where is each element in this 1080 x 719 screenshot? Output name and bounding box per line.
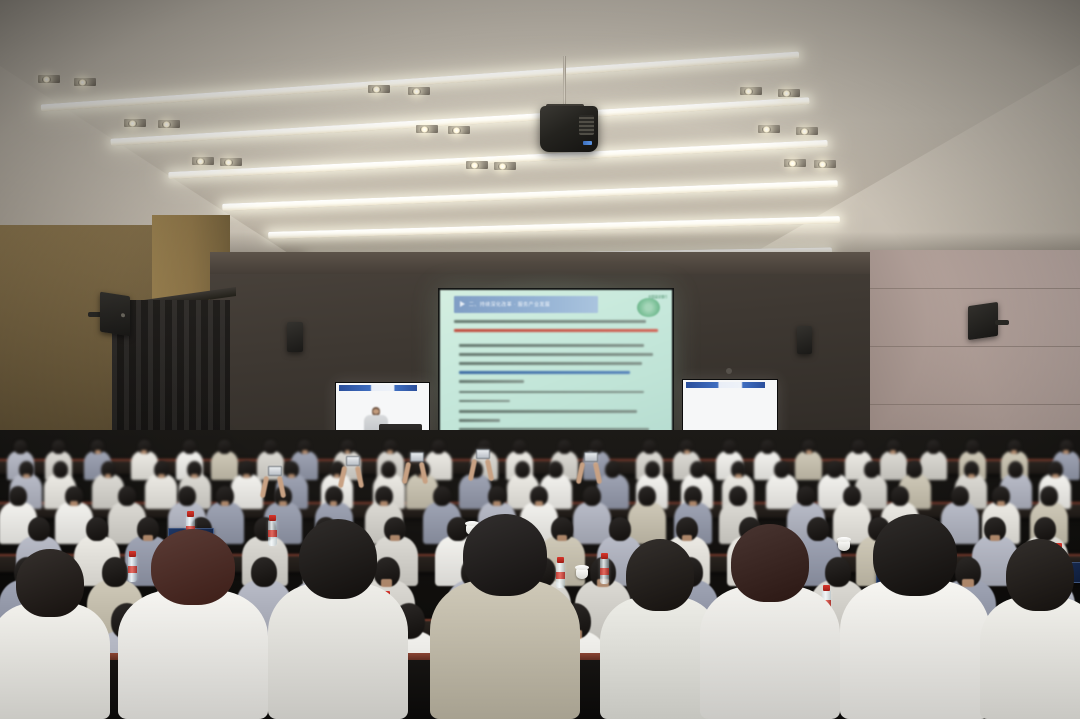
audience-person-foreground xyxy=(980,539,1080,719)
slide-text-line-10 xyxy=(459,410,638,413)
audience-photographer xyxy=(470,449,496,483)
right-wall-speaker xyxy=(968,302,998,340)
ceiling-spotlight-13 xyxy=(196,158,205,165)
slide-text-line-6 xyxy=(459,371,631,374)
ceiling-spotlight-4 xyxy=(412,88,421,95)
slide-text-line-7 xyxy=(459,380,524,383)
person-head xyxy=(381,461,396,478)
smartphone-icon xyxy=(584,452,598,462)
person-neck xyxy=(95,450,101,454)
ceiling-spotlight-8 xyxy=(162,121,171,128)
person-head xyxy=(605,461,620,478)
person-head xyxy=(432,440,445,454)
person-head xyxy=(1034,517,1056,541)
slide-title-text: 二、持续深化改革 · 服务产业发展 xyxy=(469,301,550,308)
person-head xyxy=(1040,486,1058,506)
projector-icon xyxy=(540,106,598,152)
person-head xyxy=(761,440,774,454)
ceiling-spotlight-5 xyxy=(744,88,753,95)
ceiling-light-strip-2 xyxy=(110,97,809,146)
person-head xyxy=(53,461,68,478)
audience-area: 鹏程龙武伟唐邦清立冲黄文军华明 xyxy=(0,430,1080,719)
slide-text-line-5 xyxy=(459,362,642,365)
projector-vent xyxy=(579,115,594,135)
slide-logo-text: 中国建设银行 xyxy=(648,295,667,300)
right-front-speaker xyxy=(797,326,812,354)
projector-mount-pole xyxy=(563,56,566,108)
person-neck xyxy=(141,450,147,454)
person-neck xyxy=(684,450,690,454)
person-head xyxy=(907,461,922,478)
slide-text-line-8 xyxy=(459,391,645,394)
ceiling-spotlight-18 xyxy=(818,161,827,168)
person-head xyxy=(1008,461,1023,478)
person-neck xyxy=(1052,474,1059,478)
slide-text-line-3 xyxy=(459,344,645,347)
person-neck xyxy=(689,501,697,506)
person-head xyxy=(118,486,136,506)
person-neck xyxy=(70,501,78,506)
person-head xyxy=(218,440,231,454)
ceiling-spotlight-10 xyxy=(452,127,461,134)
person-head xyxy=(951,486,969,506)
audience-photographer xyxy=(578,452,604,486)
person-head xyxy=(151,529,235,605)
audience-person-foreground xyxy=(118,529,268,719)
person-neck xyxy=(243,474,250,478)
slide-text-line-1 xyxy=(454,320,647,323)
person-head xyxy=(626,539,693,611)
person-head xyxy=(774,461,789,478)
person-torso xyxy=(980,597,1080,719)
ceiling-spotlight-6 xyxy=(782,90,791,97)
person-neck xyxy=(158,474,165,478)
person-head xyxy=(690,461,705,478)
conference-hall-photo: 二、持续深化改革 · 服务产业发展 中国建设银行 鹏程龙武伟唐邦清立冲黄文军华明 xyxy=(0,0,1080,719)
person-neck xyxy=(380,501,388,506)
ceiling-spotlight-15 xyxy=(470,162,479,169)
person-neck xyxy=(735,474,742,478)
person-head xyxy=(843,486,861,506)
projector-indicator-led xyxy=(583,141,592,145)
right-wall-speaker-arm xyxy=(995,320,1009,325)
photographer-arm xyxy=(260,476,269,499)
person-neck xyxy=(279,501,287,506)
photographer-arm xyxy=(593,462,602,485)
audience-person-foreground xyxy=(268,519,408,719)
person-neck xyxy=(302,450,308,454)
person-head xyxy=(264,440,277,454)
person-neck xyxy=(997,501,1005,506)
audience-photographer xyxy=(404,452,430,486)
person-torso xyxy=(430,580,580,719)
photographer-arm xyxy=(576,462,585,485)
ceiling-spotlight-17 xyxy=(788,160,797,167)
person-head xyxy=(515,461,530,478)
smartphone-icon xyxy=(268,466,282,476)
ceiling-spotlight-14 xyxy=(224,159,233,166)
person-head xyxy=(966,440,979,454)
smartphone-icon xyxy=(410,452,424,462)
person-head xyxy=(433,486,451,506)
person-head xyxy=(558,440,571,454)
ceiling-spotlight-1 xyxy=(42,76,51,83)
person-neck xyxy=(1011,450,1017,454)
person-torso xyxy=(840,580,990,719)
person-neck xyxy=(23,474,30,478)
person-torso xyxy=(118,590,268,719)
main-projection-screen: 二、持续深化改革 · 服务产业发展 中国建设银行 xyxy=(438,288,674,442)
person-neck xyxy=(105,474,112,478)
person-head xyxy=(891,486,909,506)
person-head xyxy=(183,440,196,454)
ceiling-spotlight-11 xyxy=(762,126,771,133)
person-head xyxy=(583,486,601,506)
slide-logo-icon xyxy=(637,298,660,318)
left-display-header-bar xyxy=(339,385,417,391)
person-head xyxy=(1006,539,1073,611)
ceiling-spotlight-3 xyxy=(372,86,381,93)
person-neck xyxy=(890,450,896,454)
person-head xyxy=(52,440,65,454)
person-head xyxy=(852,440,865,454)
person-head xyxy=(9,486,27,506)
ceiling-light-strip-4 xyxy=(222,180,838,211)
person-head xyxy=(797,486,815,506)
photographer-arm xyxy=(277,476,286,499)
slide-title-banner: 二、持续深化改革 · 服务产业发展 xyxy=(454,296,598,313)
person-head xyxy=(16,549,83,617)
person-neck xyxy=(535,501,543,506)
photographer-arm xyxy=(338,466,347,489)
person-torso xyxy=(700,586,840,719)
ceiling-spotlight-7 xyxy=(128,120,137,127)
left-wall-speaker xyxy=(100,292,130,337)
front-wall-header xyxy=(210,252,870,274)
bullet-triangle-icon xyxy=(460,301,465,307)
ceiling-spotlight-16 xyxy=(498,163,507,170)
ceiling-spotlight-2 xyxy=(78,79,87,86)
person-neck xyxy=(288,474,295,478)
person-head xyxy=(86,517,108,541)
slide-text-line-11 xyxy=(459,419,501,422)
audience-person-foreground xyxy=(700,524,840,719)
person-neck xyxy=(221,501,229,506)
person-head xyxy=(873,514,957,596)
person-neck xyxy=(806,450,812,454)
audience-person-foreground xyxy=(0,549,110,719)
person-head xyxy=(729,486,747,506)
person-head xyxy=(14,440,27,454)
slide-text-line-2 xyxy=(454,329,658,332)
audience-person-foreground xyxy=(430,514,580,719)
person-torso xyxy=(0,603,110,719)
slide-content: 二、持续深化改革 · 服务产业发展 中国建设银行 xyxy=(440,290,672,440)
ceiling-spotlight-9 xyxy=(420,126,429,133)
person-head xyxy=(638,486,656,506)
ceiling-light-strip-3 xyxy=(168,140,828,179)
person-neck xyxy=(387,450,393,454)
ceiling-spotlight-12 xyxy=(800,128,809,135)
person-neck xyxy=(493,501,501,506)
person-neck xyxy=(968,474,975,478)
person-head xyxy=(731,524,809,602)
person-head xyxy=(178,486,196,506)
slide-text-line-4 xyxy=(459,353,654,356)
person-head xyxy=(645,461,660,478)
person-neck xyxy=(330,501,338,506)
photographer-arm xyxy=(485,459,494,482)
person-head xyxy=(723,440,736,454)
audience-photographer xyxy=(340,456,366,490)
person-head xyxy=(28,517,50,541)
photographer-arm xyxy=(419,462,428,485)
person-head xyxy=(927,440,940,454)
audience-person-foreground xyxy=(840,514,990,719)
ceiling-light-strip-1 xyxy=(41,52,800,112)
ceiling-camera-icon xyxy=(726,368,732,374)
person-head xyxy=(609,517,631,541)
slide-text-line-9 xyxy=(459,400,510,403)
photographer-arm xyxy=(402,462,411,485)
smartphone-icon xyxy=(346,456,360,466)
person-head xyxy=(548,461,563,478)
person-torso xyxy=(268,583,408,719)
person-head xyxy=(299,519,377,599)
person-head xyxy=(513,440,526,454)
person-neck xyxy=(191,474,198,478)
right-display-header-bar xyxy=(686,382,765,388)
left-front-speaker xyxy=(287,322,303,352)
person-head xyxy=(463,514,547,596)
person-head xyxy=(827,461,842,478)
person-head xyxy=(643,440,656,454)
audience-photographer xyxy=(262,466,288,500)
smartphone-icon xyxy=(476,449,490,459)
photographer-arm xyxy=(468,459,477,482)
person-head xyxy=(864,461,879,478)
person-neck xyxy=(1063,450,1069,454)
photographer-arm xyxy=(355,466,364,489)
